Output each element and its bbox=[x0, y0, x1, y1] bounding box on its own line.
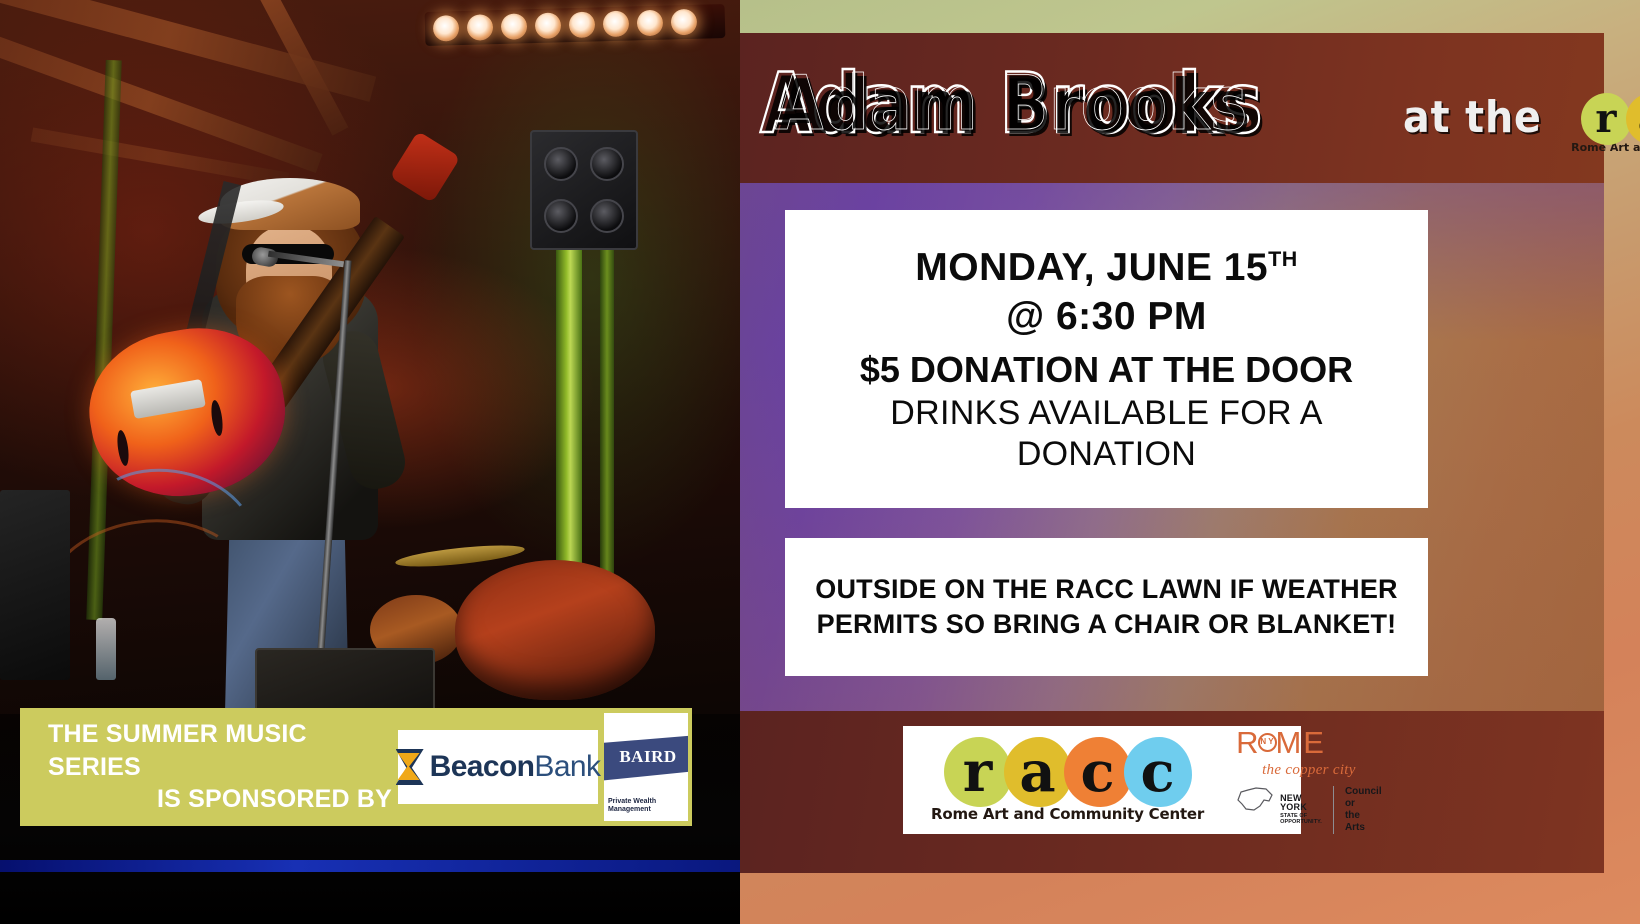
weather-notice-text: OUTSIDE ON THE RACC LAWN IF WEATHER PERM… bbox=[801, 572, 1412, 641]
light-bulb-icon bbox=[433, 15, 460, 42]
nysca-divider bbox=[1333, 786, 1334, 834]
title-group: Adam Brooks at the r a bbox=[760, 62, 1640, 154]
speaker-driver bbox=[590, 199, 624, 233]
racc-letter-a: a bbox=[1004, 737, 1072, 807]
event-drinks: DRINKS AVAILABLE FOR A DONATION bbox=[801, 393, 1412, 473]
light-bulb-icon bbox=[603, 11, 630, 38]
racc-logo-footer: r a c c Rome Art and Community bbox=[931, 737, 1204, 823]
light-bulb-icon bbox=[467, 14, 494, 41]
speaker-driver bbox=[590, 147, 624, 181]
event-poster: THE SUMMER MUSIC SERIES IS SPONSORED BY … bbox=[0, 0, 1640, 924]
nysca-state-text: NEW YORK STATE OF OPPORTUNITY. bbox=[1280, 786, 1322, 834]
event-details-box: MONDAY, JUNE 15TH @ 6:30 PM $5 DONATION … bbox=[785, 210, 1428, 508]
event-date-ordinal: TH bbox=[1268, 247, 1298, 271]
speaker-driver bbox=[544, 147, 578, 181]
racc-glyph: r bbox=[963, 744, 993, 800]
title-bar: Adam Brooks at the r a bbox=[740, 33, 1604, 183]
baird-logo: BAIRD Private Wealth Management bbox=[604, 713, 688, 821]
event-date: MONDAY, JUNE 15TH bbox=[915, 244, 1297, 292]
light-bulb-icon bbox=[569, 11, 596, 38]
racc-letter-a: a bbox=[1626, 93, 1640, 145]
nysca-council-text: Council or the Arts bbox=[1345, 786, 1382, 834]
racc-glyph: r bbox=[1595, 99, 1616, 139]
baird-flag-icon: BAIRD bbox=[604, 735, 688, 781]
racc-letter-c1: c bbox=[1064, 737, 1132, 807]
at-the-label: at the bbox=[1403, 92, 1542, 143]
pa-speaker-cabinet bbox=[530, 130, 638, 250]
sponsor-bar: THE SUMMER MUSIC SERIES IS SPONSORED BY … bbox=[20, 708, 692, 826]
event-date-text: MONDAY, JUNE 15 bbox=[915, 246, 1268, 289]
light-bulb-icon bbox=[535, 12, 562, 39]
racc-letters: r a c c bbox=[944, 737, 1192, 807]
speaker-driver bbox=[544, 199, 578, 233]
beacon-word-part1: Beacon bbox=[430, 750, 535, 783]
racc-tagline: Rome Art and Community Center bbox=[931, 805, 1204, 823]
performance-photo: THE SUMMER MUSIC SERIES IS SPONSORED BY … bbox=[0, 0, 740, 924]
weather-notice-box: OUTSIDE ON THE RACC LAWN IF WEATHER PERM… bbox=[785, 538, 1428, 676]
blue-floor-light bbox=[0, 860, 740, 872]
nysca-line-2: STATE OF OPPORTUNITY. bbox=[1280, 813, 1322, 825]
baird-wordmark: BAIRD bbox=[619, 747, 676, 767]
event-time: @ 6:30 PM bbox=[1006, 292, 1207, 343]
racc-glyph: c bbox=[1080, 744, 1114, 800]
water-bottle bbox=[96, 618, 116, 680]
racc-letters: r a c c bbox=[1581, 93, 1640, 145]
nysca-line-1: NEW YORK bbox=[1280, 794, 1322, 813]
sponsor-text: THE SUMMER MUSIC SERIES IS SPONSORED BY bbox=[30, 718, 398, 816]
nysca-council-line-1: Council or bbox=[1345, 786, 1382, 810]
nysca-logo: NEW YORK STATE OF OPPORTUNITY. Council o… bbox=[1236, 786, 1382, 834]
rome-letters-me: ME bbox=[1275, 727, 1326, 758]
sponsor-line-2: IS SPONSORED BY bbox=[30, 783, 392, 816]
bass-drum bbox=[455, 560, 655, 700]
new-york-state-map-icon bbox=[1236, 786, 1274, 812]
beacon-swoosh-gold bbox=[398, 753, 420, 780]
footer-logo-strip: r a c c Rome Art and Community bbox=[903, 726, 1301, 834]
baird-tagline: Private Wealth Management bbox=[608, 798, 684, 816]
info-panel: Adam Brooks at the r a bbox=[740, 0, 1640, 924]
nysca-council-line-2: the Arts bbox=[1345, 810, 1382, 834]
racc-letter-r: r bbox=[944, 737, 1012, 807]
beacon-bank-wordmark: BeaconBank bbox=[430, 750, 601, 784]
rome-tagline: the copper city bbox=[1262, 762, 1356, 779]
rome-nysca-logos: R NY ME the copper city NEW YORK STATE O… bbox=[1236, 727, 1382, 834]
racc-glyph: c bbox=[1140, 744, 1174, 800]
racc-letter-c2: c bbox=[1124, 737, 1192, 807]
rome-wordmark: R NY ME bbox=[1236, 727, 1326, 758]
sponsor-line-1: THE SUMMER MUSIC SERIES bbox=[30, 718, 392, 783]
racc-glyph: a bbox=[1019, 744, 1055, 800]
light-bulb-icon bbox=[501, 13, 528, 40]
beacon-bank-logo: BeaconBank bbox=[398, 730, 598, 804]
stage-monitor bbox=[0, 490, 70, 680]
racc-letter-r: r bbox=[1581, 93, 1631, 145]
light-bulb-icon bbox=[671, 9, 698, 36]
artist-name: Adam Brooks bbox=[760, 62, 1263, 145]
beacon-word-part2: Bank bbox=[534, 750, 600, 783]
light-bulb-icon bbox=[637, 10, 664, 37]
event-donation: $5 DONATION AT THE DOOR bbox=[860, 347, 1353, 394]
racc-logo-header: r a c c bbox=[1571, 93, 1640, 154]
beacon-swoosh-icon bbox=[396, 747, 426, 787]
rome-letter-r: R bbox=[1236, 727, 1260, 758]
